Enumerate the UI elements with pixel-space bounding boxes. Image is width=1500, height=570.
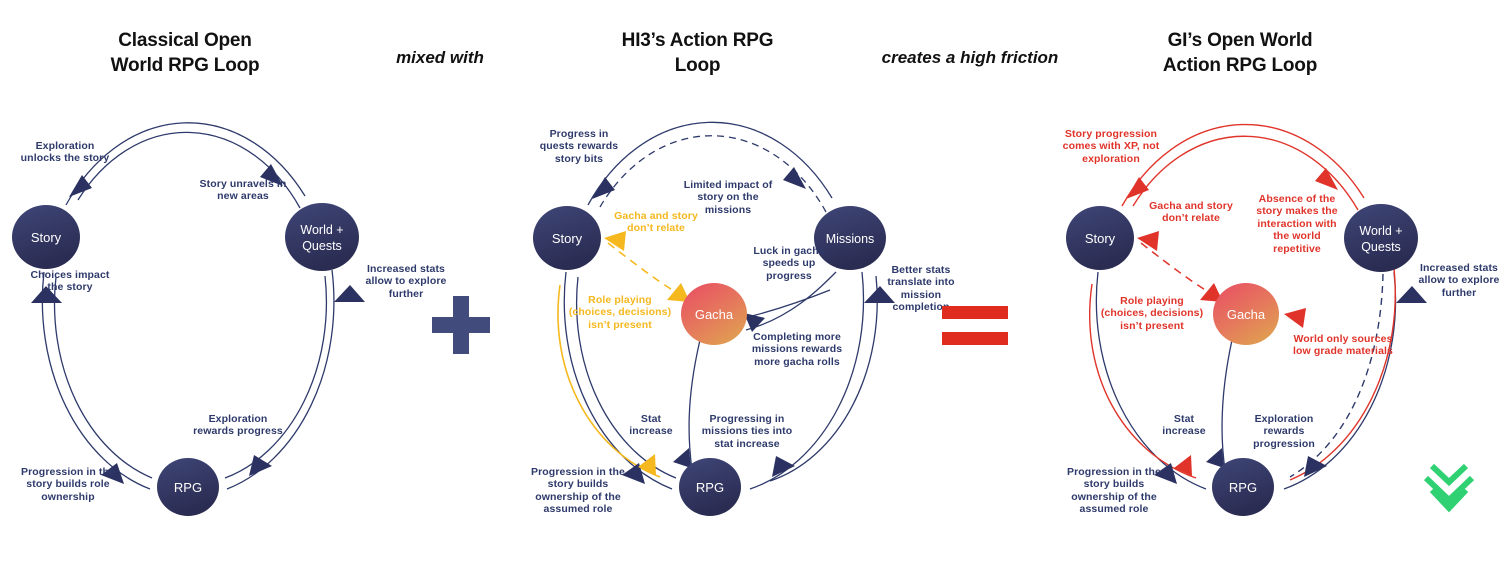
node-world-quests xyxy=(285,203,359,271)
node-gacha-label: Gacha xyxy=(695,307,734,322)
label-progress-quests-rewards-story-bits: Progress in quests rewards story bits xyxy=(533,128,625,165)
label-text: Progress in quests rewards story bits xyxy=(540,128,618,165)
label-text: Progression in the story builds role own… xyxy=(21,466,115,503)
plus-operator xyxy=(432,296,490,354)
label-text: Gacha and story don’t relate xyxy=(614,210,698,234)
node-gacha-label: Gacha xyxy=(1227,307,1266,322)
panel-gi-red-dashed-edges xyxy=(1141,243,1219,298)
label-story-progression-xp-not-exploration: Story progression comes with XP, not exp… xyxy=(1056,128,1166,165)
label-text: Story progression comes with XP, not exp… xyxy=(1063,128,1160,165)
label-text: Role playing (choices, decisions) isn’t … xyxy=(569,294,671,331)
brand-logo-chevrons-icon xyxy=(1418,458,1480,520)
node-missions-label: Missions xyxy=(826,232,875,246)
label-text: Progression in the story builds ownershi… xyxy=(1067,466,1161,515)
label-exploration-rewards-progression: Exploration rewards progression xyxy=(1239,413,1329,450)
label-choices-impact-story: Choices impact the story xyxy=(30,269,110,294)
diagram-canvas: Classical Open World RPG Loop mixed with… xyxy=(0,0,1500,570)
panel-hi3-gold-arrowheads xyxy=(604,231,690,475)
node-world-quests xyxy=(1344,204,1418,272)
node-rpg-label: RPG xyxy=(174,480,202,495)
label-text: Choices impact the story xyxy=(30,269,109,293)
label-text: Exploration rewards progression xyxy=(1253,413,1315,450)
label-luck-in-gacha-speeds-progress: Luck in gacha speeds up progress xyxy=(745,245,833,282)
label-stat-increase: Stat increase xyxy=(1153,413,1215,438)
label-text: Gacha and story don’t relate xyxy=(1149,200,1233,224)
label-progression-story-ownership-assumed-role: Progression in the story builds ownershi… xyxy=(526,466,630,516)
label-text: Exploration unlocks the story xyxy=(21,140,110,164)
label-text: Stat increase xyxy=(629,413,672,437)
label-text: Completing more missions rewards more ga… xyxy=(752,331,842,368)
label-increased-stats-explore: Increased stats allow to explore further xyxy=(362,263,450,300)
label-progressing-missions-stat-increase: Progressing in missions ties into stat i… xyxy=(692,413,802,450)
panel-classical-edges xyxy=(42,123,334,489)
label-text: Role playing (choices, decisions) isn’t … xyxy=(1101,295,1203,332)
label-text: Progressing in missions ties into stat i… xyxy=(702,413,793,450)
equals-operator xyxy=(942,306,1008,348)
loops-svg: Story World + Quests RPG xyxy=(0,0,1500,570)
label-increased-stats-explore: Increased stats allow to explore further xyxy=(1418,262,1500,299)
node-story-label: Story xyxy=(552,231,583,246)
label-absence-of-story-repetitive: Absence of the story makes the interacti… xyxy=(1253,193,1341,255)
label-text: Stat increase xyxy=(1162,413,1205,437)
label-text: Increased stats allow to explore further xyxy=(1419,262,1500,299)
label-text: Luck in gacha speeds up progress xyxy=(753,245,824,282)
node-world-quests-label-l1: World + xyxy=(300,223,343,237)
brand-logo xyxy=(1418,458,1480,520)
label-gacha-and-story-dont-relate: Gacha and story don’t relate xyxy=(607,210,705,235)
label-text: World only sources low grade materials xyxy=(1293,333,1393,357)
equals-bottom-bar xyxy=(942,332,1008,345)
label-text: Story unravels in new areas xyxy=(200,178,287,202)
label-world-only-sources-low-grade: World only sources low grade materials xyxy=(1292,333,1394,358)
node-rpg-label: RPG xyxy=(1229,480,1257,495)
node-world-quests-label-l2: Quests xyxy=(302,239,342,253)
panel-hi3-gold-edges xyxy=(558,243,686,477)
label-text: Increased stats allow to explore further xyxy=(366,263,447,300)
plus-horizontal-bar xyxy=(432,317,490,333)
label-completing-missions-rewards-gacha-rolls: Completing more missions rewards more ga… xyxy=(745,331,849,368)
node-story-label: Story xyxy=(31,230,62,245)
label-role-playing-isnt-present: Role playing (choices, decisions) isn’t … xyxy=(1100,295,1204,332)
label-stat-increase: Stat increase xyxy=(620,413,682,438)
node-world-quests-label-l1: World + xyxy=(1359,224,1402,238)
label-gacha-and-story-dont-relate: Gacha and story don’t relate xyxy=(1142,200,1240,225)
node-story-label: Story xyxy=(1085,231,1116,246)
label-text: Progression in the story builds ownershi… xyxy=(531,466,625,515)
label-progression-story-role-ownership: Progression in the story builds role own… xyxy=(16,466,120,503)
equals-top-bar xyxy=(942,306,1008,319)
label-exploration-rewards-progress: Exploration rewards progress xyxy=(192,413,284,438)
node-rpg-label: RPG xyxy=(696,480,724,495)
label-progression-story-ownership-assumed-role: Progression in the story builds ownershi… xyxy=(1062,466,1166,516)
label-story-unravels-new-areas: Story unravels in new areas xyxy=(198,178,288,203)
node-world-quests-label-l2: Quests xyxy=(1361,240,1401,254)
label-text: Exploration rewards progress xyxy=(193,413,283,437)
label-role-playing-isnt-present: Role playing (choices, decisions) isn’t … xyxy=(568,294,672,331)
label-exploration-unlocks-story: Exploration unlocks the story xyxy=(20,140,110,165)
label-text: Absence of the story makes the interacti… xyxy=(1256,193,1337,255)
